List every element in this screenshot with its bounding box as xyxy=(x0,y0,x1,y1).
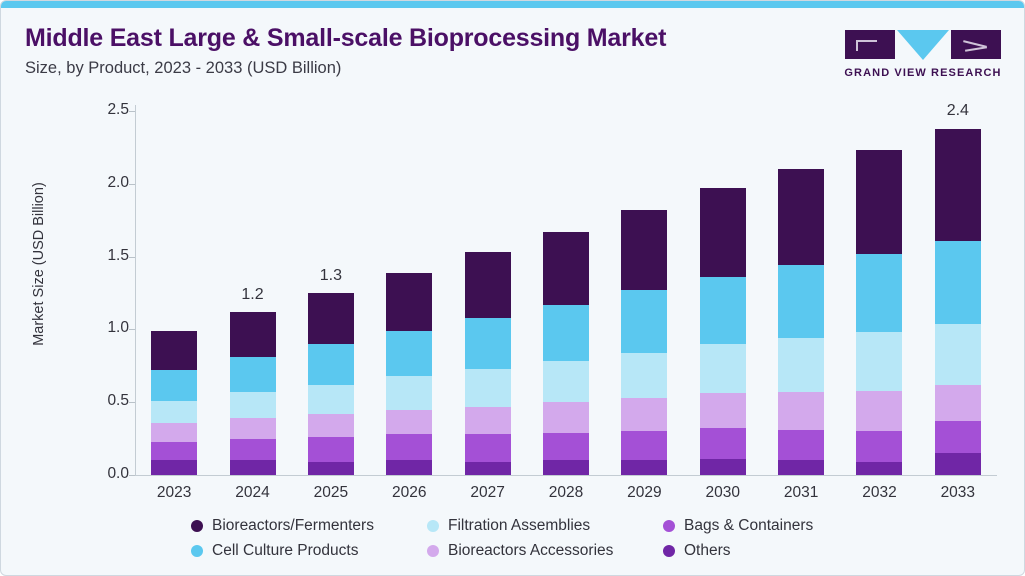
bar-group[interactable] xyxy=(927,86,989,475)
legend-item[interactable]: Bags & Containers xyxy=(663,517,863,535)
plot-area: Market Size (USD Billion) 0.00.51.01.52.… xyxy=(1,86,1025,506)
bar-segment[interactable] xyxy=(856,431,902,462)
bar-stack[interactable] xyxy=(151,331,197,475)
bar-stack[interactable] xyxy=(308,293,354,475)
bars-container: 20231.220241.320252026202720282029203020… xyxy=(135,86,997,475)
y-tick-label: 2.5 xyxy=(77,101,129,119)
bar-segment[interactable] xyxy=(386,331,432,376)
bar-segment[interactable] xyxy=(700,459,746,475)
legend-swatch-icon xyxy=(191,545,203,557)
bar-group[interactable] xyxy=(143,86,205,475)
page-subtitle: Size, by Product, 2023 - 2033 (USD Billi… xyxy=(25,59,666,78)
bar-segment[interactable] xyxy=(230,312,276,357)
bar-segment[interactable] xyxy=(856,462,902,475)
legend-item[interactable]: Others xyxy=(663,542,863,560)
bar-segment[interactable] xyxy=(935,324,981,385)
bar-segment[interactable] xyxy=(621,210,667,290)
bar-segment[interactable] xyxy=(308,293,354,344)
bar-segment[interactable] xyxy=(700,393,746,428)
legend-row: Cell Culture ProductsBioreactors Accesso… xyxy=(191,538,891,563)
bar-group[interactable] xyxy=(378,86,440,475)
bar-stack[interactable] xyxy=(700,188,746,475)
legend-item[interactable]: Bioreactors Accessories xyxy=(427,542,663,560)
bar-segment[interactable] xyxy=(543,305,589,362)
bar-segment[interactable] xyxy=(230,392,276,418)
bar-segment[interactable] xyxy=(151,370,197,401)
bar-segment[interactable] xyxy=(386,410,432,435)
bar-segment[interactable] xyxy=(700,277,746,344)
title-block: Middle East Large & Small-scale Bioproce… xyxy=(25,24,666,78)
bar-value-label: 1.2 xyxy=(222,286,284,304)
y-tick-label: 0.0 xyxy=(77,465,129,483)
x-tick-label: 2023 xyxy=(143,484,205,502)
bar-segment[interactable] xyxy=(778,169,824,265)
legend-label: Others xyxy=(684,542,731,560)
bar-group[interactable] xyxy=(457,86,519,475)
x-tick-label: 2031 xyxy=(770,484,832,502)
bar-segment[interactable] xyxy=(151,442,197,461)
chart-header: Middle East Large & Small-scale Bioproce… xyxy=(1,8,1024,86)
logo-marks xyxy=(844,30,1002,60)
bar-segment[interactable] xyxy=(621,460,667,475)
bar-segment[interactable] xyxy=(151,331,197,370)
logo-triangle-icon xyxy=(897,30,949,60)
x-tick-label: 2027 xyxy=(457,484,519,502)
legend-label: Bags & Containers xyxy=(684,517,813,535)
legend-swatch-icon xyxy=(427,520,439,532)
bar-segment[interactable] xyxy=(935,421,981,453)
bar-segment[interactable] xyxy=(935,241,981,324)
x-tick-label: 2033 xyxy=(927,484,989,502)
legend-item[interactable]: Cell Culture Products xyxy=(191,542,427,560)
bar-segment[interactable] xyxy=(856,150,902,253)
bar-segment[interactable] xyxy=(856,254,902,333)
bar-value-label: 1.3 xyxy=(300,267,362,285)
bar-segment[interactable] xyxy=(778,460,824,475)
legend-item[interactable]: Bioreactors/Fermenters xyxy=(191,517,427,535)
bar-segment[interactable] xyxy=(230,357,276,392)
bar-group[interactable] xyxy=(770,86,832,475)
bar-segment[interactable] xyxy=(386,376,432,409)
bar-segment[interactable] xyxy=(308,344,354,385)
bar-group[interactable] xyxy=(848,86,910,475)
bar-segment[interactable] xyxy=(386,273,432,331)
x-tick-label: 2024 xyxy=(222,484,284,502)
bar-segment[interactable] xyxy=(856,332,902,390)
bar-segment[interactable] xyxy=(308,437,354,462)
legend-label: Cell Culture Products xyxy=(212,542,358,560)
bar-segment[interactable] xyxy=(465,252,511,318)
bar-segment[interactable] xyxy=(543,402,589,433)
bar-segment[interactable] xyxy=(621,290,667,353)
bar-segment[interactable] xyxy=(308,414,354,437)
y-tick-label: 1.0 xyxy=(77,319,129,337)
bar-segment[interactable] xyxy=(230,460,276,475)
bar-segment[interactable] xyxy=(465,318,511,369)
bar-segment[interactable] xyxy=(308,462,354,475)
logo-r-mark-icon xyxy=(951,30,1001,59)
bar-segment[interactable] xyxy=(778,265,824,338)
legend-label: Bioreactors Accessories xyxy=(448,542,613,560)
bar-segment[interactable] xyxy=(778,338,824,392)
bar-stack[interactable] xyxy=(386,273,432,475)
bar-stack[interactable] xyxy=(856,150,902,475)
x-tick-label: 2025 xyxy=(300,484,362,502)
bar-segment[interactable] xyxy=(465,434,511,462)
bar-stack[interactable] xyxy=(621,210,667,475)
y-tick-label: 2.0 xyxy=(77,174,129,192)
logo-g-mark-icon xyxy=(845,30,895,59)
chart-card: Middle East Large & Small-scale Bioproce… xyxy=(0,0,1025,576)
bar-segment[interactable] xyxy=(308,385,354,414)
bar-segment[interactable] xyxy=(621,398,667,431)
bar-segment[interactable] xyxy=(700,344,746,394)
legend-row: Bioreactors/FermentersFiltration Assembl… xyxy=(191,513,891,538)
legend-item[interactable]: Filtration Assemblies xyxy=(427,517,663,535)
bar-segment[interactable] xyxy=(935,129,981,241)
bar-segment[interactable] xyxy=(778,392,824,430)
legend-label: Filtration Assemblies xyxy=(448,517,590,535)
logo-wordmark: GRAND VIEW RESEARCH xyxy=(844,67,1002,79)
x-tick-label: 2029 xyxy=(613,484,675,502)
legend-label: Bioreactors/Fermenters xyxy=(212,517,374,535)
legend-swatch-icon xyxy=(427,545,439,557)
x-axis-line xyxy=(135,475,997,476)
bar-segment[interactable] xyxy=(621,353,667,398)
x-tick-label: 2032 xyxy=(848,484,910,502)
bar-segment[interactable] xyxy=(230,439,276,461)
bar-stack[interactable] xyxy=(465,252,511,475)
bar-segment[interactable] xyxy=(856,391,902,432)
bar-group[interactable] xyxy=(222,86,284,475)
bar-segment[interactable] xyxy=(543,232,589,305)
bar-segment[interactable] xyxy=(465,369,511,407)
bar-segment[interactable] xyxy=(543,433,589,461)
bar-segment[interactable] xyxy=(151,401,197,423)
bar-segment[interactable] xyxy=(386,460,432,475)
brand-logo: GRAND VIEW RESEARCH xyxy=(844,30,1002,79)
legend-swatch-icon xyxy=(663,520,675,532)
bar-segment[interactable] xyxy=(621,431,667,460)
bar-stack[interactable] xyxy=(543,232,589,475)
y-axis-title: Market Size (USD Billion) xyxy=(31,134,47,394)
top-accent-bar xyxy=(1,1,1024,8)
bar-segment[interactable] xyxy=(465,407,511,435)
bar-value-label: 2.4 xyxy=(927,102,989,120)
y-tick-label: 0.5 xyxy=(77,392,129,410)
chart-legend: Bioreactors/FermentersFiltration Assembl… xyxy=(191,513,891,563)
bar-stack[interactable] xyxy=(935,129,981,475)
bar-group[interactable] xyxy=(692,86,754,475)
bar-segment[interactable] xyxy=(151,460,197,475)
y-tick-label: 1.5 xyxy=(77,247,129,265)
bar-segment[interactable] xyxy=(230,418,276,438)
bar-segment[interactable] xyxy=(386,434,432,460)
bar-segment[interactable] xyxy=(543,361,589,402)
bar-segment[interactable] xyxy=(935,453,981,475)
bar-stack[interactable] xyxy=(778,169,824,475)
bar-segment[interactable] xyxy=(700,428,746,459)
x-tick-label: 2026 xyxy=(378,484,440,502)
x-tick-label: 2028 xyxy=(535,484,597,502)
bar-stack[interactable] xyxy=(230,312,276,475)
x-tick-label: 2030 xyxy=(692,484,754,502)
bar-segment[interactable] xyxy=(935,385,981,421)
legend-swatch-icon xyxy=(191,520,203,532)
bar-segment[interactable] xyxy=(151,423,197,442)
bar-segment[interactable] xyxy=(700,188,746,277)
bar-segment[interactable] xyxy=(465,462,511,475)
page-title: Middle East Large & Small-scale Bioproce… xyxy=(25,24,666,53)
bar-segment[interactable] xyxy=(778,430,824,461)
legend-swatch-icon xyxy=(663,545,675,557)
y-axis-ticks: 0.00.51.01.52.02.5 xyxy=(65,86,129,506)
bar-group[interactable] xyxy=(613,86,675,475)
bar-group[interactable] xyxy=(535,86,597,475)
bar-segment[interactable] xyxy=(543,460,589,475)
